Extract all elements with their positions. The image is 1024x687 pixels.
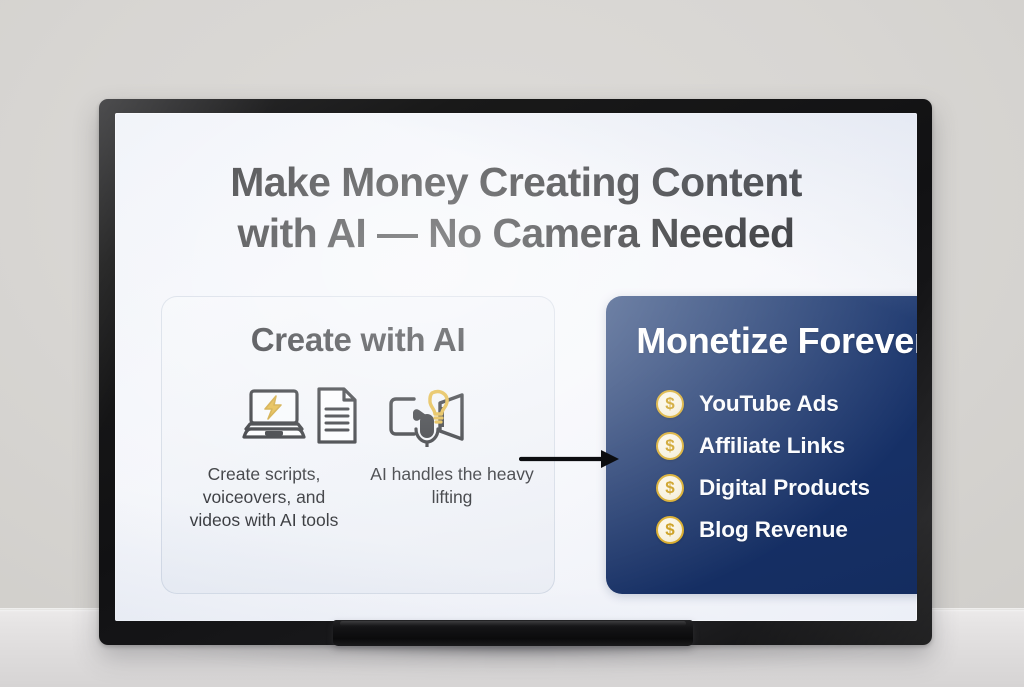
monetize-forever-card: Monetize Forever $ YouTube Ads $ Affilia… xyxy=(606,296,917,594)
laptop-lightning-icon xyxy=(240,385,308,447)
create-card-heading: Create with AI xyxy=(251,321,466,359)
monetization-label-affiliate-links: Affiliate Links xyxy=(699,433,845,459)
dollar-coin-icon: $ xyxy=(656,432,684,460)
monetization-label-blog-revenue: Blog Revenue xyxy=(699,517,848,543)
list-item: $ Digital Products xyxy=(656,467,917,509)
soundbar xyxy=(333,620,693,646)
monetize-card-heading: Monetize Forever xyxy=(624,320,917,362)
monetization-label-digital-products: Digital Products xyxy=(699,475,870,501)
monetization-label-youtube-ads: YouTube Ads xyxy=(699,391,839,417)
right-arrow-icon xyxy=(519,446,625,472)
monitor-screen: Make Money Creating Content with AI — No… xyxy=(115,113,917,621)
slide-title-line-1: Make Money Creating Content xyxy=(157,157,875,208)
monitor-device: Make Money Creating Content with AI — No… xyxy=(99,99,932,645)
list-item: $ Blog Revenue xyxy=(656,509,917,551)
monetization-list: $ YouTube Ads $ Affiliate Links $ Digita… xyxy=(624,383,917,551)
monitor-stand-shadow xyxy=(310,644,720,658)
document-lines-icon xyxy=(314,386,360,446)
slide-title-line-2: with AI — No Camera Needed xyxy=(157,208,875,259)
video-camera-microphone-lightbulb-icon xyxy=(384,385,476,447)
caption-create-scripts: Create scripts, voiceovers, and videos w… xyxy=(178,463,350,533)
caption-ai-heavy-lifting: AI handles the heavy lifting xyxy=(366,463,538,533)
photo-scene: Make Money Creating Content with AI — No… xyxy=(0,0,1024,687)
cards-row: Create with AI xyxy=(157,296,875,594)
ai-production-icon-group xyxy=(384,385,476,447)
slide-title: Make Money Creating Content with AI — No… xyxy=(157,157,875,260)
list-item: $ Affiliate Links xyxy=(656,425,917,467)
soundbar-gloss xyxy=(340,621,686,626)
dollar-coin-icon: $ xyxy=(656,516,684,544)
list-item: $ YouTube Ads xyxy=(656,383,917,425)
create-card-captions: Create scripts, voiceovers, and videos w… xyxy=(178,463,538,533)
dollar-coin-icon: $ xyxy=(656,474,684,502)
dollar-coin-icon: $ xyxy=(656,390,684,418)
create-card-icon-row xyxy=(178,385,538,447)
scripts-icon-group xyxy=(240,385,360,447)
presentation-slide: Make Money Creating Content with AI — No… xyxy=(115,113,917,621)
create-with-ai-card: Create with AI xyxy=(161,296,555,594)
